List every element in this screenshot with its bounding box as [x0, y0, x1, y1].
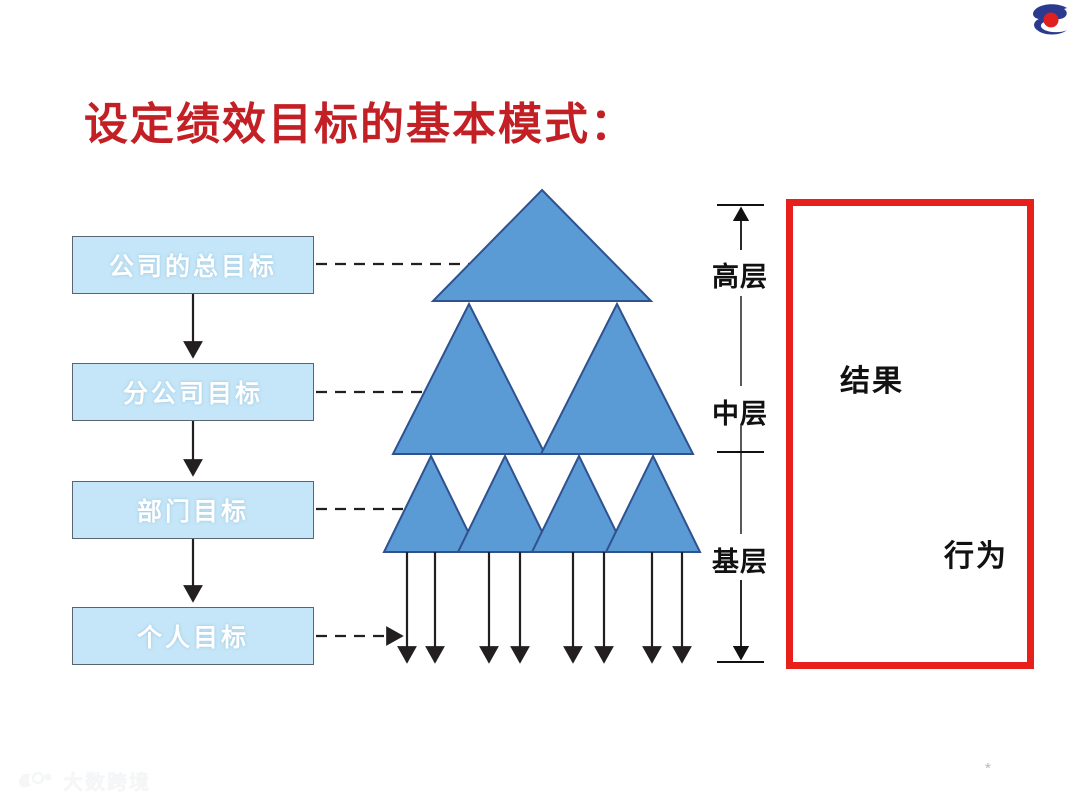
goal-box-label: 个人目标 [137, 618, 249, 654]
watermark: 大数跨境 [16, 766, 151, 795]
pyramid-triangle-base-1[interactable] [384, 456, 478, 552]
company-logo [1026, 2, 1074, 40]
pyramid-triangle-base-2[interactable] [458, 456, 552, 552]
pyramid-triangle-base-4[interactable] [606, 456, 700, 552]
pyramid-output-arrows [407, 552, 682, 662]
goal-box-label: 分公司目标 [123, 374, 263, 410]
pyramid-triangle-top[interactable] [433, 190, 651, 301]
level-label-middle: 中层 [712, 392, 768, 431]
goal-box-branch[interactable]: 分公司目标 [72, 363, 314, 421]
company-logo-icon [1026, 2, 1074, 40]
pyramid-row-middle [393, 304, 693, 454]
outcome-box [786, 199, 1034, 669]
goal-box-department[interactable]: 部门目标 [72, 481, 314, 539]
pyramid-row-top [433, 190, 651, 301]
slide-canvas: 设定绩效目标的基本模式： 公司的总目标 分公司目标 部门目标 个人目标 [0, 0, 1080, 810]
pyramid-triangle-middle-right[interactable] [541, 304, 693, 454]
pyramid-triangle-base-3[interactable] [532, 456, 626, 552]
goal-box-individual[interactable]: 个人目标 [72, 607, 314, 665]
level-label-top: 高层 [712, 255, 768, 294]
watermark-logo-icon [16, 769, 54, 793]
footnote-mark: * [985, 760, 991, 777]
outcome-word-result: 结果 [840, 356, 904, 400]
goal-box-label: 部门目标 [137, 492, 249, 528]
page-title: 设定绩效目标的基本模式： [84, 88, 636, 152]
pyramid-row-base [384, 456, 700, 552]
watermark-text: 大数跨境 [63, 766, 151, 795]
goal-to-pyramid-links [316, 264, 470, 636]
outcome-word-behavior: 行为 [944, 531, 1008, 575]
goal-box-company[interactable]: 公司的总目标 [72, 236, 314, 294]
goal-box-label: 公司的总目标 [109, 247, 277, 283]
level-label-base: 基层 [712, 540, 768, 579]
pyramid-triangle-middle-left[interactable] [393, 304, 545, 454]
